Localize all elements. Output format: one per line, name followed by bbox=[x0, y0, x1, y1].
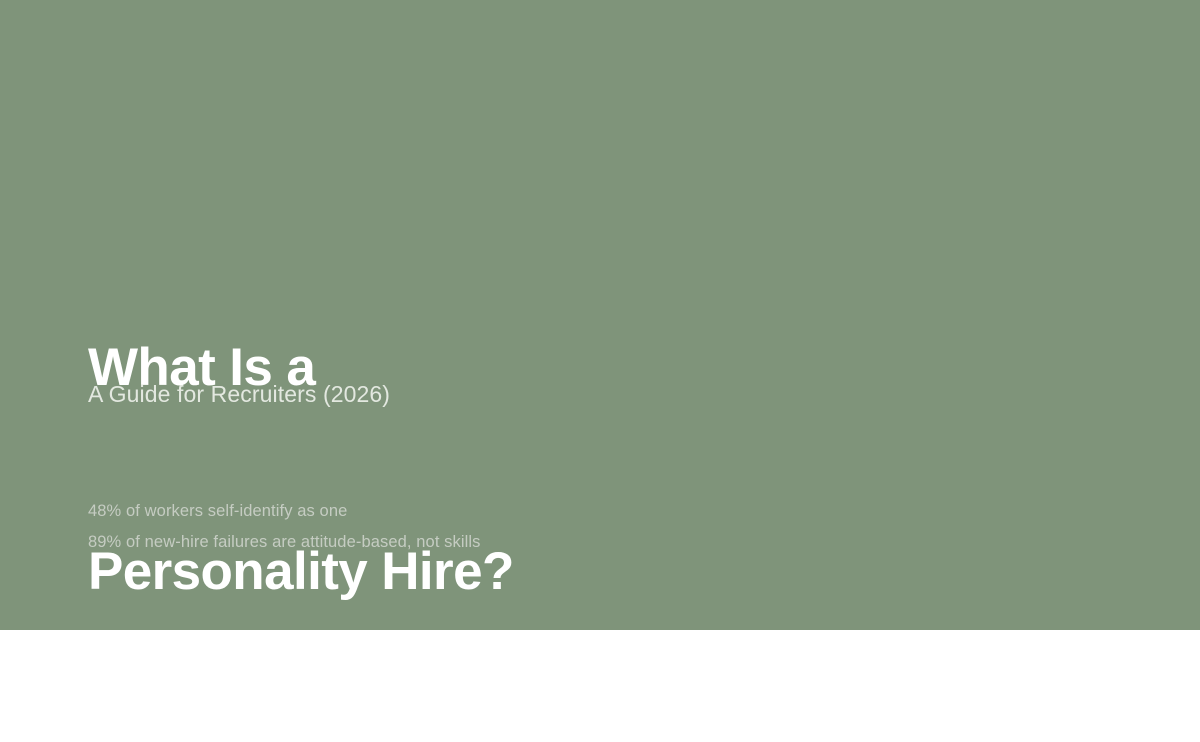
title-card: What Is a Personality Hire? A Guide for … bbox=[0, 0, 1200, 630]
page-title: What Is a Personality Hire? bbox=[88, 198, 514, 742]
stats-list: 48% of workers self-identify as one 89% … bbox=[88, 496, 481, 558]
page-subtitle: A Guide for Recruiters (2026) bbox=[88, 379, 390, 409]
stat-item-1: 48% of workers self-identify as one bbox=[88, 496, 481, 527]
stat-item-2: 89% of new-hire failures are attitude-ba… bbox=[88, 527, 481, 558]
content-block: What Is a Personality Hire? A Guide for … bbox=[88, 0, 1112, 630]
